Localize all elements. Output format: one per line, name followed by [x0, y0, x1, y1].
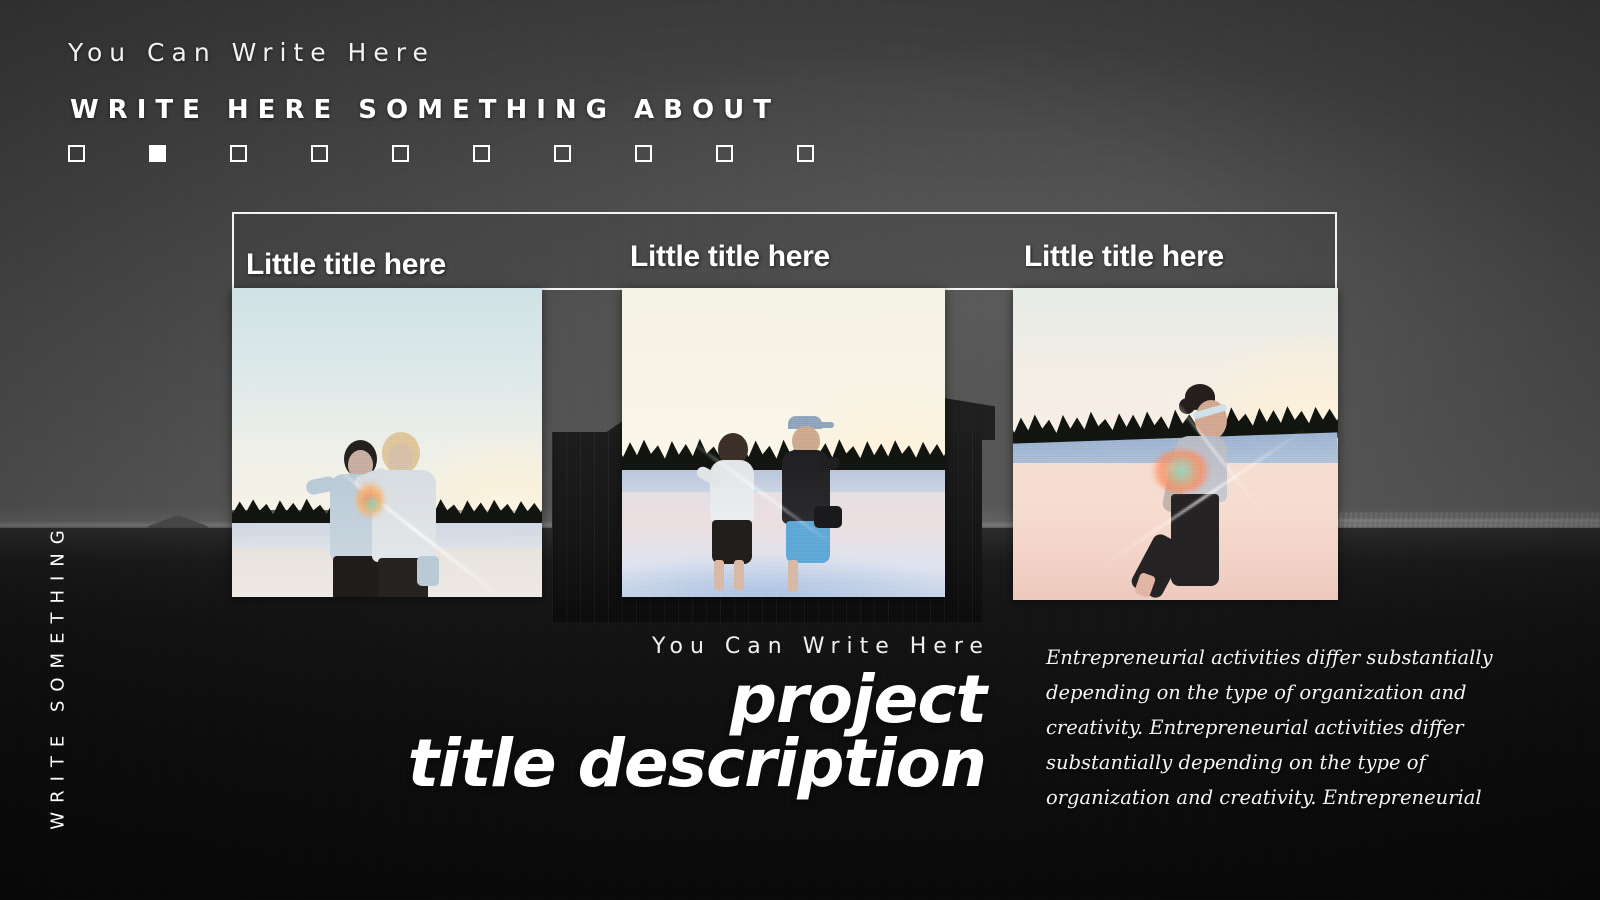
- slide-eyebrow: You Can Write Here: [68, 38, 435, 67]
- square-marker[interactable]: [554, 145, 571, 162]
- description-paragraph: Entrepreneurial activities differ substa…: [1046, 640, 1498, 815]
- square-marker-active[interactable]: [149, 145, 166, 162]
- square-marker[interactable]: [311, 145, 328, 162]
- project-title-line-1: project: [0, 668, 986, 732]
- project-title: project title description: [0, 668, 986, 796]
- square-marker[interactable]: [635, 145, 652, 162]
- vertical-side-label: WRITE SOMETHING: [48, 496, 69, 856]
- square-marker[interactable]: [797, 145, 814, 162]
- gallery-photo-1[interactable]: [232, 288, 542, 597]
- slide-headline: WRITE HERE SOMETHING ABOUT: [70, 95, 780, 125]
- square-marker[interactable]: [716, 145, 733, 162]
- gallery-photo-2[interactable]: [622, 288, 945, 597]
- gallery-card-title-1: Little title here: [246, 248, 446, 288]
- square-marker[interactable]: [230, 145, 247, 162]
- square-marker[interactable]: [473, 145, 490, 162]
- gallery-photo-3[interactable]: [1013, 288, 1338, 600]
- square-marker[interactable]: [392, 145, 409, 162]
- gallery-title-row: Little title here Little title here Litt…: [232, 212, 1337, 290]
- presentation-slide: You Can Write Here WRITE HERE SOMETHING …: [0, 0, 1600, 900]
- bottom-eyebrow: You Can Write Here: [652, 634, 990, 659]
- square-marker[interactable]: [68, 145, 85, 162]
- gallery-card-title-3: Little title here: [1024, 240, 1224, 280]
- gallery-card-title-2: Little title here: [630, 240, 830, 280]
- project-title-line-2: title description: [0, 732, 986, 796]
- photo2-foam: [622, 548, 945, 597]
- square-marker-row: [68, 145, 814, 162]
